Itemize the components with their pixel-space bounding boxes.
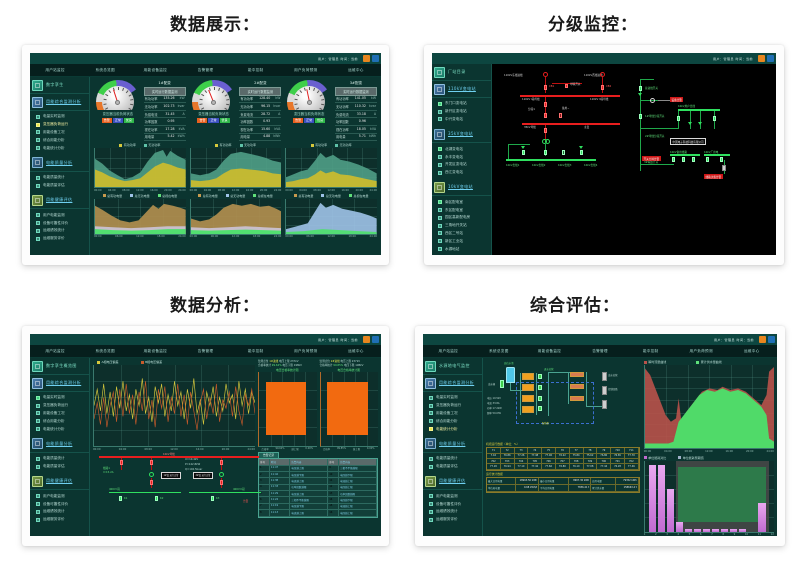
table-row: 视在功率18.05kVA bbox=[335, 126, 377, 134]
sidebar-item-0-1[interactable]: 变压器负荷运行 bbox=[36, 121, 89, 129]
sidebar-group-1[interactable]: 电能质量分析 bbox=[423, 436, 482, 453]
legend-alarm: 告警 bbox=[102, 118, 112, 123]
bullet-icon bbox=[36, 502, 40, 506]
breaker-c[interactable] bbox=[220, 460, 223, 465]
sidebar-group-0-label: 用能综合监测分析 bbox=[439, 380, 474, 386]
breaker-3[interactable] bbox=[544, 113, 547, 118]
cell-unit: kVA bbox=[367, 126, 377, 133]
sidebar-item-2-2[interactable]: 运维绩效统计 bbox=[36, 508, 89, 516]
sidebar-item-label: 电能质量统计 bbox=[43, 456, 65, 461]
sidebar-item-1-1[interactable]: 电能质量评估 bbox=[36, 463, 89, 471]
station-item-0-0[interactable]: 东门口变电站 bbox=[438, 100, 491, 108]
nav-item-2[interactable]: 用能设备监控 bbox=[524, 345, 575, 358]
legend-normal: 正常 bbox=[113, 118, 123, 123]
chart-plot bbox=[94, 199, 186, 235]
cell-value: 128.40 bbox=[258, 96, 272, 103]
right-switch-5[interactable] bbox=[706, 157, 709, 162]
analysis-top-row: A相电压偏差 B相电压偏差 bbox=[90, 358, 381, 451]
station-group-0-items: 东门口变电站 新开区变电站 中兴变电站 bbox=[432, 98, 491, 126]
cell-unit: A bbox=[176, 111, 186, 118]
station-item-1-2[interactable]: 开发区变电站 bbox=[438, 161, 491, 169]
alarm-tag-0[interactable]: 设备告警 bbox=[670, 97, 683, 102]
x-tick: 12:00 bbox=[327, 235, 334, 238]
cell-unit: kVA bbox=[176, 126, 186, 133]
sidebar-item-2-1[interactable]: 设备可靠性评价 bbox=[36, 500, 89, 508]
main-incoming-switch[interactable] bbox=[639, 86, 642, 91]
cell-unit: A bbox=[271, 111, 281, 118]
monitor-icon bbox=[32, 378, 43, 389]
window-icon[interactable] bbox=[767, 55, 774, 62]
bullet-icon bbox=[36, 411, 40, 415]
legend-item: 总视在电量 bbox=[158, 194, 178, 198]
station-label: 西江变电站 bbox=[445, 170, 463, 175]
window-icon[interactable] bbox=[372, 336, 379, 343]
cell-value: 4.88 bbox=[258, 134, 272, 141]
sidebar-item-label: 综合用能分析 bbox=[43, 138, 65, 143]
sidebar-item-2-0[interactable]: 用户电能监测 bbox=[36, 492, 89, 500]
window-icon[interactable] bbox=[768, 336, 775, 343]
tie-label: 母联开关 bbox=[570, 82, 580, 86]
nav-item-5[interactable]: 用户负荷预测 bbox=[281, 64, 331, 77]
feeder-switch-3[interactable] bbox=[580, 150, 583, 155]
station-label: 水源地站 bbox=[445, 247, 459, 252]
x-tick: 越上限 bbox=[291, 447, 298, 451]
cell-unit: kW bbox=[271, 96, 281, 103]
matrix-table: 717273747576777879710711 7.1676.8677.267… bbox=[486, 447, 640, 471]
sidebar-item-2-1[interactable]: 设备可靠性评价 bbox=[36, 219, 89, 227]
tab-alarm-records[interactable]: 告警记录 bbox=[258, 452, 279, 459]
x-tick: 12:00 bbox=[136, 189, 143, 192]
x-tick: 12:00 bbox=[327, 189, 334, 192]
sld-canvas: 110kV东线进线 110kV西线进线 CB1 CB2 母联开关 bbox=[492, 64, 776, 255]
sidebar-header-4[interactable]: 水源地电气监控 bbox=[423, 358, 482, 375]
bullet-icon bbox=[438, 247, 442, 251]
station-item-2-4[interactable]: 西区二号站 bbox=[438, 230, 491, 238]
voltage-deviation-chart: A相电压偏差 B相电压偏差 bbox=[93, 360, 255, 451]
sidebar-item-0-3[interactable]: 综合用能分析 bbox=[429, 417, 482, 425]
screenshot-card-hierarchical-monitoring: 用户：管理员 时间：当前 厂站目录 110kV变电站 东门口变电站 bbox=[424, 45, 784, 265]
pump-0[interactable] bbox=[522, 373, 534, 380]
sidebar-item-0-4[interactable]: 电能统计分析 bbox=[36, 425, 89, 433]
alert-icon[interactable] bbox=[363, 55, 370, 62]
sidebar-item-label: 电量实时监测 bbox=[43, 114, 65, 119]
sidebar-group-1[interactable]: 电能质量分析 bbox=[30, 436, 89, 453]
sidebar-item-label: 运维绩效统计 bbox=[43, 509, 65, 514]
incoming-label-0: 110kV东线进线 bbox=[504, 73, 523, 77]
sidebar-item-0-4[interactable]: 电能统计分析 bbox=[36, 144, 89, 152]
chart-plot bbox=[285, 148, 377, 188]
station-group-2[interactable]: 10kV变电站 bbox=[432, 179, 491, 196]
table-row: 无功功率102.73kvar bbox=[144, 103, 186, 111]
sidebar-item-1-1[interactable]: 电能质量评估 bbox=[36, 182, 89, 190]
sidebar-item-0-2[interactable]: 用能设备工况 bbox=[36, 129, 89, 137]
bullet-icon bbox=[429, 404, 433, 408]
bus-label-2: 35kV母线 bbox=[524, 125, 536, 129]
sidebar-group-0-label: 用能综合监测分析 bbox=[46, 99, 81, 105]
sidebar-item-0-3[interactable]: 综合用能分析 bbox=[36, 417, 89, 425]
bullet-icon bbox=[438, 147, 442, 151]
cell-name: 负载电流 bbox=[239, 111, 257, 118]
sidebar-item-label: 电能质量评估 bbox=[43, 464, 65, 469]
bullet-icon bbox=[36, 213, 40, 217]
vfd-0[interactable] bbox=[570, 372, 584, 377]
table-row: 有功功率135.26kW bbox=[144, 96, 186, 104]
nav-item-6[interactable]: 运维中心 bbox=[726, 345, 777, 358]
bullet-icon bbox=[36, 510, 40, 514]
nav-item-0[interactable]: 用户站监控 bbox=[423, 345, 474, 358]
sidebar-group-1[interactable]: 电能质量分析 bbox=[30, 155, 89, 172]
kv-val: 7836.41 t bbox=[569, 485, 592, 492]
gauge-widget-2: 变压器当前负荷状态 告警 正常 优良 bbox=[285, 80, 333, 141]
sidebar-group-1-label: 电能质量分析 bbox=[46, 441, 72, 447]
legend-alarm: 告警 bbox=[197, 118, 207, 123]
breaker-1[interactable] bbox=[601, 85, 604, 90]
bar-8 bbox=[712, 529, 719, 531]
process-label-7: 配电柜 bbox=[542, 421, 549, 425]
sidebar-group-2-items: 用户电能监测 设备可靠性评价 运维绩效统计 运维服务评价 bbox=[423, 490, 482, 526]
station-label: 永丰变电站 bbox=[445, 155, 463, 160]
x-tick: 00:00 bbox=[190, 235, 197, 238]
legend-normal: 正常 bbox=[304, 118, 314, 123]
sidebar-item-1-0[interactable]: 电能质量统计 bbox=[429, 455, 482, 463]
kv-key: 最大日用电量 bbox=[487, 478, 516, 485]
nav-item-3[interactable]: 告警管理 bbox=[180, 64, 230, 77]
nav-item-6[interactable]: 运维中心 bbox=[331, 345, 381, 358]
x-tick: 1 bbox=[644, 533, 646, 536]
bullet-icon bbox=[36, 176, 40, 180]
cell-value: 31.45 bbox=[162, 111, 176, 118]
breaker-d[interactable] bbox=[150, 480, 153, 485]
nav-item-0[interactable]: 用户站监控 bbox=[30, 64, 80, 77]
alarm-table-widget: 告警记录 序号 时间 告警内容 序号 告警内容 111:47 bbox=[258, 452, 378, 518]
nav-item-4[interactable]: 能中控制 bbox=[625, 345, 676, 358]
sidebar-item-1-0[interactable]: 电能质量统计 bbox=[36, 455, 89, 463]
report-icon bbox=[425, 476, 436, 487]
alarm-tag-1[interactable]: 开关分闸告警 bbox=[642, 156, 661, 161]
sidebar-header-3[interactable]: 数字孪生概览图 bbox=[30, 358, 89, 375]
table-row: 无功功率96.15kvar bbox=[239, 103, 281, 111]
chart-plot bbox=[258, 372, 317, 447]
gauge-legend-0: 告警 正常 优良 bbox=[102, 118, 134, 123]
nav-item-2[interactable]: 用能设备监控 bbox=[130, 345, 180, 358]
nav-item-1[interactable]: 系统总览图 bbox=[474, 345, 525, 358]
gauge-row: 变压器当前负荷状态 告警 正常 优良 1#配变 实时运行数据监测 有 bbox=[90, 77, 381, 141]
station-group-0[interactable]: 110kV变电站 bbox=[432, 81, 491, 98]
monitor-icon bbox=[425, 378, 436, 389]
station-item-2-1[interactable]: 东区配电室 bbox=[438, 206, 491, 214]
alert-icon[interactable] bbox=[363, 336, 370, 343]
bar-12 bbox=[758, 503, 765, 531]
right-switch-0[interactable] bbox=[677, 116, 680, 121]
bullet-icon bbox=[36, 518, 40, 522]
station-item-0-2[interactable]: 中兴变电站 bbox=[438, 116, 491, 124]
gauge-table-title-1: 实时运行数据监测 bbox=[239, 87, 281, 96]
single-line-diagram: 110kV东线进线 110kV西线进线 CB1 CB2 母联开关 bbox=[492, 64, 776, 255]
sidebar-item-2-0[interactable]: 用户电能监测 bbox=[429, 492, 482, 500]
chart-x-axis: 合格率 99.62% 越上限 0.00% bbox=[258, 447, 317, 451]
x-tick: 00:00 bbox=[190, 189, 197, 192]
gauge-name-1: 2#配变 bbox=[239, 80, 281, 87]
titlebar-3: 用户：管理员 时间：当前 bbox=[30, 334, 381, 345]
bar-11 bbox=[739, 529, 746, 531]
sidebar-1: 数字孪生 用能综合监测分析 电量实时监测 变压器负荷运行 用能设备工况 综合用能… bbox=[30, 77, 90, 255]
col-content-2: 告警内容 bbox=[339, 459, 377, 464]
sidebar-item-label: 用能设备工况 bbox=[43, 411, 65, 416]
bullet-icon bbox=[36, 184, 40, 188]
feeder-label-3: 10kV出线4 bbox=[584, 163, 597, 167]
sidebar-item-2-0[interactable]: 用户电能监测 bbox=[36, 211, 89, 219]
substation-icon bbox=[434, 84, 445, 95]
nav-item-3[interactable]: 告警管理 bbox=[575, 345, 626, 358]
valve-icon[interactable] bbox=[500, 380, 504, 388]
right-switch-4[interactable] bbox=[692, 157, 695, 162]
sidebar-item-1-1[interactable]: 电能质量评估 bbox=[429, 463, 482, 471]
cell-value: 96.15 bbox=[258, 103, 272, 110]
breaker-b[interactable] bbox=[150, 460, 153, 465]
station-item-2-0[interactable]: 南区配电室 bbox=[438, 198, 491, 206]
bullet-icon bbox=[36, 457, 40, 461]
station-group-1[interactable]: 35kV变电站 bbox=[432, 126, 491, 143]
sidebar-item-2-2[interactable]: 运维绩效统计 bbox=[36, 227, 89, 235]
sidebar-group-0-label: 用能综合监测分析 bbox=[46, 380, 81, 386]
cell-unit bbox=[271, 118, 281, 125]
station-item-1-1[interactable]: 永丰变电站 bbox=[438, 153, 491, 161]
right-label-2: 2#母线分段开关 bbox=[645, 134, 664, 138]
nav-item-5[interactable]: 用户负荷预测 bbox=[281, 345, 331, 358]
cell-value: 5.71 bbox=[353, 134, 367, 141]
bus-tie-breaker[interactable] bbox=[565, 84, 568, 88]
legend-item: 有功功率 bbox=[311, 143, 328, 147]
kv-key: 平均日用电量 bbox=[539, 485, 568, 492]
cell-value: 135.26 bbox=[162, 96, 176, 103]
section-title-comprehensive-evaluation: 综合评估： bbox=[530, 291, 620, 316]
sidebar-item-0-4[interactable]: 电能统计分析 bbox=[429, 425, 482, 433]
breaker-a[interactable] bbox=[120, 460, 123, 465]
alarm-tag-2[interactable]: 线路过载告警 bbox=[704, 174, 723, 179]
chart-x-axis: 00:00 04:00 08:00 12:00 16:00 20:00 24:0… bbox=[285, 188, 377, 192]
breaker-e[interactable] bbox=[220, 480, 223, 485]
bullet-icon bbox=[438, 208, 442, 212]
cell-unit: kWh bbox=[271, 134, 281, 141]
sidebar-item-label: 用户电能监测 bbox=[436, 494, 458, 499]
sidebar-item-label: 变压器负荷运行 bbox=[43, 122, 68, 127]
right-bus-2 bbox=[670, 154, 700, 156]
x-tick: 16:00 bbox=[150, 189, 157, 192]
nav-item-3[interactable]: 告警管理 bbox=[180, 345, 230, 358]
station-label: 三角地开关站 bbox=[445, 223, 467, 228]
bullet-icon bbox=[36, 494, 40, 498]
sidebar-item-label: 设备可靠性评价 bbox=[436, 502, 461, 507]
sidebar-item-label: 用户电能监测 bbox=[43, 494, 65, 499]
transformer-b bbox=[219, 472, 224, 477]
pump-valve-0[interactable] bbox=[538, 374, 542, 379]
nav-item-4[interactable]: 能中控制 bbox=[231, 64, 281, 77]
cell-value: 5.42 bbox=[162, 134, 176, 141]
station-label: 西区二号站 bbox=[445, 231, 463, 236]
breaker-5[interactable] bbox=[544, 128, 547, 133]
bullet-icon bbox=[36, 146, 40, 150]
x-tick: 99.62% bbox=[275, 447, 284, 451]
alert-icon[interactable] bbox=[758, 55, 765, 62]
sidebar-group-0[interactable]: 用能综合监测分析 bbox=[423, 375, 482, 392]
legend-item: 有功功率 bbox=[215, 143, 232, 147]
x-tick: 20:00 bbox=[260, 189, 267, 192]
bullet-icon bbox=[429, 510, 433, 514]
sidebar-group-2[interactable]: 用能健康评估 bbox=[30, 473, 89, 490]
x-tick: 合格率 bbox=[261, 447, 268, 451]
sidebar-item-2-2[interactable]: 运维绩效统计 bbox=[429, 508, 482, 516]
bar-10 bbox=[730, 529, 737, 531]
breaker-2[interactable] bbox=[544, 102, 547, 107]
station-item-2-5[interactable]: 新区工业站 bbox=[438, 237, 491, 245]
breaker-4[interactable] bbox=[559, 113, 562, 118]
sidebar-item-label: 电能统计分析 bbox=[436, 427, 458, 432]
station-label: 新开区变电站 bbox=[445, 109, 467, 114]
station-item-2-6[interactable]: 水源地站 bbox=[438, 245, 491, 253]
sidebar-group-0[interactable]: 用能综合监测分析 bbox=[30, 94, 89, 111]
right-switch-2[interactable] bbox=[672, 157, 675, 162]
station-item-0-1[interactable]: 新开区变电站 bbox=[438, 108, 491, 116]
cell-unit: kVA bbox=[271, 126, 281, 133]
bus-label: 10kV母线 bbox=[163, 452, 175, 456]
sidebar-item-0-3[interactable]: 综合用能分析 bbox=[36, 136, 89, 144]
nav-item-0[interactable]: 用户站监控 bbox=[30, 345, 80, 358]
x-tick: 18:00 bbox=[253, 235, 260, 238]
sidebar-item-0-0[interactable]: 电量实时监测 bbox=[429, 394, 482, 402]
sidebar-item-2-3[interactable]: 运维服务评价 bbox=[429, 516, 482, 524]
right-label-4: 10kV用户出线 bbox=[678, 104, 695, 108]
station-group-2-label: 10kV变电站 bbox=[448, 184, 473, 190]
lv-switch-1[interactable] bbox=[155, 496, 158, 501]
bullet-icon bbox=[429, 396, 433, 400]
analysis-bottom-row: 10kV母线 线路1 I=15.2A U=10.4kV P=142.8kW Q= bbox=[90, 451, 381, 518]
app-body-3: 数字孪生概览图 用能综合监测分析 电量实时监测 变压器负荷运行 用能设备工况 综… bbox=[30, 358, 381, 536]
sidebar-item-2-3[interactable]: 运维服务评价 bbox=[36, 516, 89, 524]
x-tick: 12:00 bbox=[232, 235, 239, 238]
nav-bar-3: 用户站监控 系统总览图 用能设备监控 告警管理 能中控制 用户负荷预测 运维中心 bbox=[30, 345, 381, 358]
cell-name: 有功功率 bbox=[239, 96, 257, 103]
table-row: 功率因数0.95 bbox=[144, 118, 186, 126]
main-xf-label: 主变 bbox=[584, 125, 589, 129]
sidebar-group-0[interactable]: 用能综合监测分析 bbox=[30, 375, 89, 392]
sidebar-item-label: 电能质量评估 bbox=[43, 183, 65, 188]
app-body-1: 数字孪生 用能综合监测分析 电量实时监测 变压器负荷运行 用能设备工况 综合用能… bbox=[30, 77, 381, 255]
cell-unit: kWh bbox=[367, 134, 377, 141]
col-content: 告警内容 bbox=[290, 459, 328, 464]
nav-item-4[interactable]: 能中控制 bbox=[231, 345, 281, 358]
control-loop-boundary bbox=[516, 382, 594, 424]
window-icon[interactable] bbox=[372, 55, 379, 62]
cell: 77.66 bbox=[542, 464, 556, 469]
bar-6 bbox=[694, 529, 701, 531]
sidebar-item-2-1[interactable]: 设备可靠性评价 bbox=[429, 500, 482, 508]
breaker-0[interactable] bbox=[544, 85, 547, 90]
bar-5 bbox=[685, 529, 692, 532]
titlebar-status: 用户：管理员 时间：当前 bbox=[713, 57, 753, 61]
process-label-6: 进水总管 bbox=[544, 367, 554, 371]
x-tick: 16:00 bbox=[246, 189, 253, 192]
titlebar-4: 用户：管理员 时间：当前 bbox=[423, 334, 777, 345]
station-item-1-0[interactable]: 北湖变电站 bbox=[438, 145, 491, 153]
sidebar-item-0-1[interactable]: 变压器负荷运行 bbox=[429, 402, 482, 410]
nav-item-1[interactable]: 系统总览图 bbox=[80, 345, 130, 358]
section-switch-1[interactable] bbox=[639, 114, 642, 119]
feeder-switch-2[interactable] bbox=[562, 150, 565, 155]
cell-value: 15.60 bbox=[258, 126, 272, 133]
sidebar-item-label: 设备可靠性评价 bbox=[43, 502, 68, 507]
x-tick: 08:00 bbox=[313, 189, 320, 192]
bullet-icon bbox=[36, 229, 40, 233]
report-icon bbox=[32, 195, 43, 206]
gauge-caption-2: 变压器当前负荷状态 bbox=[294, 111, 325, 116]
bus-lv-2 bbox=[189, 492, 261, 494]
right-switch-6[interactable] bbox=[720, 157, 723, 162]
sidebar-item-0-2[interactable]: 用能设备工况 bbox=[429, 410, 482, 418]
sidebar-item-label: 运维服务评价 bbox=[43, 236, 65, 241]
nav-item-5[interactable]: 用户负荷预测 bbox=[676, 345, 727, 358]
sidebar-item-label: 综合用能分析 bbox=[43, 419, 65, 424]
sidebar-item-0-0[interactable]: 电量实时监测 bbox=[36, 113, 89, 121]
bullet-icon bbox=[438, 216, 442, 220]
process-label-10: 控制回路 bbox=[608, 387, 618, 391]
gauge-table-0: 1#配变 实时运行数据监测 有功功率135.26kW 无功功率102.73kva… bbox=[144, 80, 186, 141]
nav-bar-4: 用户站监控 系统总览图 用能设备监控 告警管理 能中控制 用户负荷预测 运维中心 bbox=[423, 345, 777, 358]
cell-name: 无功功率 bbox=[335, 103, 353, 110]
nav-item-1[interactable]: 系统总览图 bbox=[80, 64, 130, 77]
feeder-switch-1[interactable] bbox=[544, 150, 547, 155]
alert-icon[interactable] bbox=[759, 336, 766, 343]
lv-switch-0[interactable] bbox=[119, 496, 122, 501]
bullet-icon bbox=[36, 396, 40, 400]
harmonic-block bbox=[327, 382, 367, 435]
station-item-1-3[interactable]: 西江变电站 bbox=[438, 169, 491, 177]
info-tag-a: 1#变 运行正常 bbox=[161, 472, 181, 479]
sidebar-item-0-2[interactable]: 用能设备工况 bbox=[36, 410, 89, 418]
cell: 77.18 bbox=[487, 464, 501, 469]
bullet-icon bbox=[438, 231, 442, 235]
station-item-2-2[interactable]: 园区高新配电房 bbox=[438, 214, 491, 222]
legend-item: B相电压偏差 bbox=[141, 360, 163, 364]
cell-value: 33.18 bbox=[353, 111, 367, 118]
alarm-table[interactable]: 序号 时间 告警内容 序号 告警内容 111:47电压越上限9三相不平衡越限 2… bbox=[258, 458, 378, 517]
right-switch-1[interactable] bbox=[713, 116, 716, 121]
main-content-4: 高位水池 出水阀 bbox=[483, 358, 777, 536]
bullet-icon bbox=[429, 502, 433, 506]
gauge-cell-2: 变压器当前负荷状态 告警 正常 优良 3#配变 实时运行数据监测 有 bbox=[285, 80, 377, 141]
sidebar-item-2-3[interactable]: 运维服务评价 bbox=[36, 235, 89, 243]
x-tick: 20:00 bbox=[164, 189, 171, 192]
sidebar-header[interactable]: 数字孪生 bbox=[30, 77, 89, 94]
report-icon bbox=[32, 476, 43, 487]
titlebar-status: 用户：管理员 时间：当前 bbox=[318, 338, 358, 342]
nav-item-2[interactable]: 用能设备监控 bbox=[130, 64, 180, 77]
area-chart-2: 有功功率 无功功率 bbox=[285, 143, 377, 192]
station-item-2-3[interactable]: 三角地开关站 bbox=[438, 222, 491, 230]
sidebar-item-0-1[interactable]: 变压器负荷运行 bbox=[36, 402, 89, 410]
kv-key: 最小日用电量 bbox=[539, 478, 568, 485]
sidebar-header-station[interactable]: 厂站目录 bbox=[432, 64, 491, 81]
nav-item-6[interactable]: 运维中心 bbox=[331, 64, 381, 77]
feeder-switch-0[interactable] bbox=[522, 150, 525, 155]
cell-unit: kvar bbox=[176, 103, 186, 110]
sidebar-item-0-0[interactable]: 电量实时监测 bbox=[36, 394, 89, 402]
process-label-1: 出水阀 bbox=[488, 382, 495, 386]
sidebar-item-1-0[interactable]: 电能质量统计 bbox=[36, 174, 89, 182]
sidebar-group-2[interactable]: 用能健康评估 bbox=[30, 192, 89, 209]
sidebar-group-2[interactable]: 用能健康评估 bbox=[423, 473, 482, 490]
right-switch-3[interactable] bbox=[682, 157, 685, 162]
lv-switch-2[interactable] bbox=[211, 496, 214, 501]
